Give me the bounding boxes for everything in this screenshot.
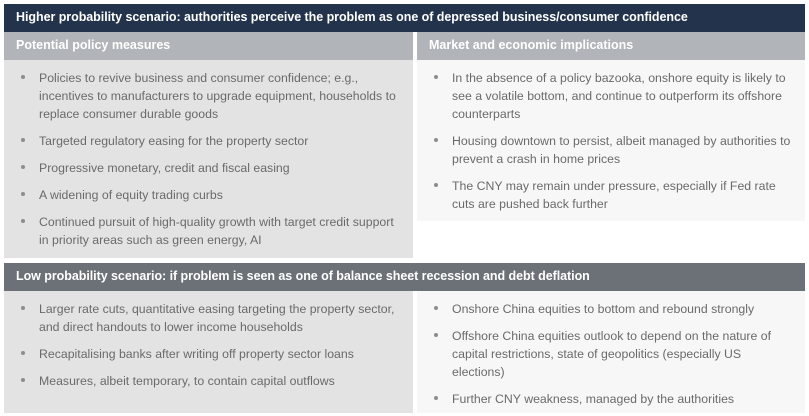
list-item: Larger rate cuts, quantitative easing ta…	[14, 300, 403, 336]
list-item-text: Offshore China equities outlook to depen…	[452, 329, 771, 379]
bullet-dot-icon	[434, 138, 438, 142]
list-item: Further CNY weakness, managed by the aut…	[427, 390, 795, 408]
section-2-columns: Larger rate cuts, quantitative easing ta…	[0, 291, 809, 413]
list-item-text: In the absence of a policy bazooka, onsh…	[452, 71, 786, 121]
section-1-left-cell: Policies to revive business and consumer…	[4, 60, 413, 258]
list-item-text: Further CNY weakness, managed by the aut…	[452, 392, 734, 406]
section-1-right-cell: In the absence of a policy bazooka, onsh…	[417, 60, 805, 221]
list-item-text: Targeted regulatory easing for the prope…	[39, 134, 308, 148]
list-item: Housing downtown to persist, albeit mana…	[427, 132, 795, 168]
list-item-text: Policies to revive business and consumer…	[39, 71, 396, 121]
bullet-list: Policies to revive business and consumer…	[14, 69, 403, 250]
list-item-text: Larger rate cuts, quantitative easing ta…	[39, 302, 394, 334]
bullet-dot-icon	[21, 192, 25, 196]
list-item-text: Onshore China equities to bottom and reb…	[452, 302, 754, 316]
bullet-dot-icon	[434, 75, 438, 79]
bullet-dot-icon	[21, 306, 25, 310]
list-item: Recapitalising banks after writing off p…	[14, 345, 403, 363]
list-item: Targeted regulatory easing for the prope…	[14, 132, 403, 150]
bullet-list: In the absence of a policy bazooka, onsh…	[427, 69, 795, 213]
list-item: A widening of equity trading curbs	[14, 186, 403, 204]
bullet-dot-icon	[21, 378, 25, 382]
bullet-dot-icon	[21, 75, 25, 79]
section-1-right-column: Market and economic implications In the …	[413, 32, 805, 258]
bullet-dot-icon	[21, 219, 25, 223]
section-1-columns: Potential policy measures Policies to re…	[0, 32, 809, 258]
list-item-text: A widening of equity trading curbs	[39, 188, 223, 202]
bullet-dot-icon	[434, 306, 438, 310]
list-item: Measures, albeit temporary, to contain c…	[14, 372, 403, 390]
bullet-dot-icon	[21, 351, 25, 355]
bullet-dot-icon	[434, 333, 438, 337]
list-item: Policies to revive business and consumer…	[14, 69, 403, 123]
section-2-left-cell: Larger rate cuts, quantitative easing ta…	[4, 291, 413, 413]
list-item-text: Recapitalising banks after writing off p…	[39, 347, 354, 361]
section-2-right-cell: Onshore China equities to bottom and reb…	[417, 291, 805, 413]
bullet-list: Onshore China equities to bottom and reb…	[427, 300, 795, 408]
section-1-left-column: Potential policy measures Policies to re…	[4, 32, 413, 258]
list-item-text: Housing downtown to persist, albeit mana…	[452, 134, 790, 166]
bullet-dot-icon	[434, 396, 438, 400]
list-item-text: Measures, albeit temporary, to contain c…	[39, 374, 335, 388]
section-2-left-column: Larger rate cuts, quantitative easing ta…	[4, 291, 413, 413]
bullet-list: Larger rate cuts, quantitative easing ta…	[14, 300, 403, 390]
bullet-dot-icon	[21, 165, 25, 169]
list-item: Continued pursuit of high-quality growth…	[14, 213, 403, 249]
list-item: Offshore China equities outlook to depen…	[427, 327, 795, 381]
list-item: In the absence of a policy bazooka, onsh…	[427, 69, 795, 123]
column-heading-potential-policy-measures: Potential policy measures	[4, 32, 413, 60]
list-item: Onshore China equities to bottom and reb…	[427, 300, 795, 318]
list-item: Progressive monetary, credit and fiscal …	[14, 159, 403, 177]
list-item-text: Progressive monetary, credit and fiscal …	[39, 161, 290, 175]
bullet-dot-icon	[434, 183, 438, 187]
section-low-probability: Low probability scenario: if problem is …	[0, 258, 809, 291]
scenario-matrix-table: Higher probability scenario: authorities…	[0, 0, 809, 416]
column-heading-market-and-economic-implications: Market and economic implications	[417, 32, 805, 60]
list-item-text: Continued pursuit of high-quality growth…	[39, 215, 394, 247]
section-higher-probability: Higher probability scenario: authorities…	[0, 0, 809, 32]
bullet-dot-icon	[21, 138, 25, 142]
list-item: The CNY may remain under pressure, espec…	[427, 177, 795, 213]
list-item-text: The CNY may remain under pressure, espec…	[452, 179, 776, 211]
section-header-higher-probability: Higher probability scenario: authorities…	[0, 0, 809, 32]
section-header-low-probability: Low probability scenario: if problem is …	[0, 258, 809, 291]
section-2-right-column: Onshore China equities to bottom and reb…	[413, 291, 805, 413]
